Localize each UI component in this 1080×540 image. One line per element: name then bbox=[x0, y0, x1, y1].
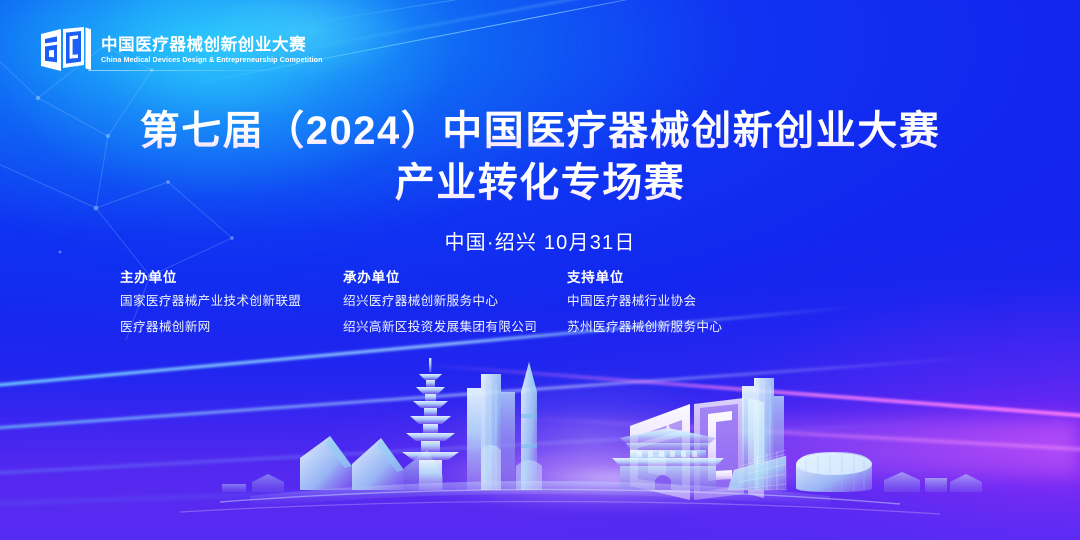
skyscraper-icon bbox=[467, 374, 515, 490]
organizer-heading: 支持单位 bbox=[567, 266, 722, 286]
organizer-column-coorganizer: 承办单位 绍兴医疗器械创新服务中心 绍兴高新区投资发展集团有限公司 bbox=[343, 266, 537, 346]
organizer-item: 医疗器械创新网 bbox=[120, 321, 301, 334]
organizer-heading: 承办单位 bbox=[343, 266, 537, 286]
brand-logo[interactable]: 中国医疗器械创新创业大赛 China Medical Devices Desig… bbox=[40, 27, 330, 73]
event-location-date: 中国·绍兴 10月31日 bbox=[0, 226, 1080, 255]
organizer-column-supporter: 支持单位 中国医疗器械行业协会 苏州医疗器械创新服务中心 bbox=[567, 266, 722, 346]
organizer-item: 绍兴高新区投资发展集团有限公司 bbox=[343, 321, 537, 334]
organizer-heading: 主办单位 bbox=[120, 266, 301, 286]
stadium-icon bbox=[796, 452, 872, 492]
poster-canvas: 中国医疗器械创新创业大赛 China Medical Devices Desig… bbox=[0, 0, 1080, 540]
organizer-item: 国家医疗器械产业技术创新联盟 bbox=[120, 295, 301, 308]
logo-underline-divider bbox=[88, 70, 288, 71]
far-right-buildings-icon bbox=[884, 472, 982, 492]
city-skyline-illustration bbox=[0, 340, 1080, 540]
logo-title-en: China Medical Devices Design & Entrepren… bbox=[101, 56, 323, 63]
logo-title-cn: 中国医疗器械创新创业大赛 bbox=[101, 37, 330, 54]
organizer-item: 绍兴医疗器械创新服务中心 bbox=[343, 295, 537, 308]
organizer-item: 苏州医疗器械创新服务中心 bbox=[567, 321, 722, 334]
logo-text-group: 中国医疗器械创新创业大赛 China Medical Devices Desig… bbox=[101, 37, 330, 63]
page-title-line2: 产业转化专场赛 bbox=[0, 160, 1080, 206]
tower-icon bbox=[516, 362, 542, 490]
organizer-column-host: 主办单位 国家医疗器械产业技术创新联盟 医疗器械创新网 bbox=[120, 266, 301, 346]
open-door-book-logo-icon bbox=[40, 27, 92, 73]
organizer-item: 中国医疗器械行业协会 bbox=[567, 295, 722, 308]
hero-title-block: 第七届（2024）中国医疗器械创新创业大赛 产业转化专场赛 中国·绍兴 10月3… bbox=[0, 108, 1080, 255]
far-left-buildings-icon bbox=[222, 474, 284, 492]
page-title-line1: 第七届（2024）中国医疗器械创新创业大赛 bbox=[0, 108, 1080, 154]
